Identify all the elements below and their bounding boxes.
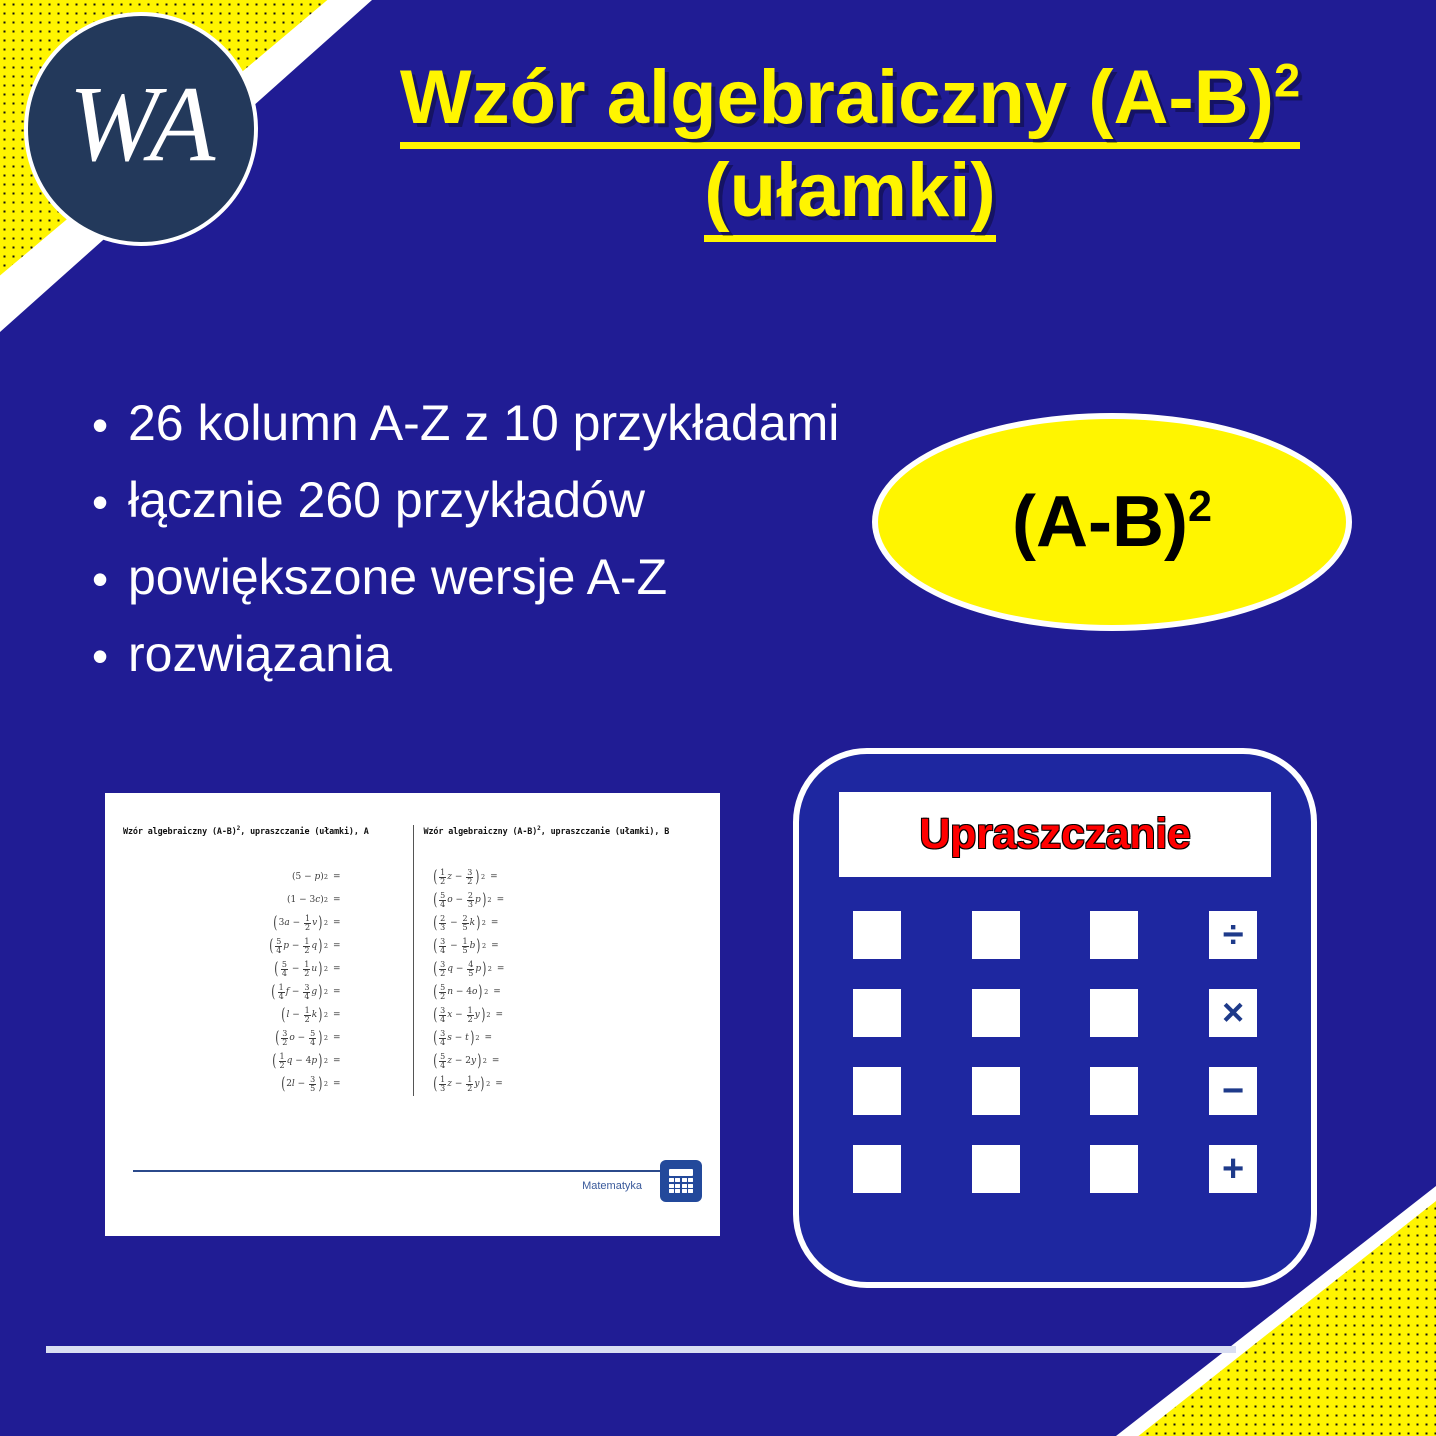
calc-key-blank[interactable] [1090,989,1138,1037]
worksheet-footer-rule [133,1170,688,1172]
worksheet-expression: (54p − 12q)2= [123,935,413,958]
calculator-icon-screen [669,1169,693,1176]
slide-canvas: WA Wzór algebraiczny (A-B)2 (ułamki) • 2… [0,0,1436,1436]
bottom-divider [46,1346,1236,1353]
col-b-head-post: , upraszczanie (ułamki), B [541,826,670,836]
bullet-dot-icon: • [72,469,128,525]
worksheet-expression: (52n − 4o)2= [424,981,703,1004]
worksheet-expression: (1 − 3c)2= [123,889,413,912]
worksheet-expression: (5 − p)2= [123,866,413,889]
calc-key-blank[interactable] [853,911,901,959]
worksheet-column-b: Wzór algebraiczny (A-B)2, upraszczanie (… [413,825,703,1096]
minus-icon[interactable]: − [1209,1067,1257,1115]
calculator-icon-keys [669,1178,693,1193]
formula-badge-base: (A-B) [1012,482,1188,562]
calc-key-blank[interactable] [972,1067,1020,1115]
calc-key-blank[interactable] [1090,1067,1138,1115]
worksheet-expression: (32q − 45p)2= [424,958,703,981]
calc-key-blank[interactable] [853,1145,901,1193]
title-line-1-text: Wzór algebraiczny (A-B) [400,55,1274,140]
bullet-dot-icon: • [72,623,128,679]
worksheet-column-a: Wzór algebraiczny (A-B)2, upraszczanie (… [123,825,413,1096]
worksheet-expression: (34 − 15b)2= [424,935,703,958]
worksheet-expression: (32o − 54)2= [123,1027,413,1050]
calc-key-blank[interactable] [1090,911,1138,959]
bullet-dot-icon: • [72,546,128,602]
calc-key-blank[interactable] [853,989,901,1037]
calculator-keypad: ÷ × − + [839,911,1271,1193]
formula-badge-superscript: 2 [1188,483,1212,531]
title-line-2-text: (ułamki) [704,148,995,242]
plus-icon[interactable]: + [1209,1145,1257,1193]
worksheet-expression: (13z − 12y)2= [424,1073,703,1096]
worksheet-column-a-items: (5 − p)2= (1 − 3c)2= (3a − 12v)2= (54p −… [123,866,413,1096]
title-line-1-superscript: 2 [1274,54,1300,107]
worksheet-preview[interactable]: Wzór algebraiczny (A-B)2, upraszczanie (… [105,793,720,1236]
bullet-label: 26 kolumn A-Z z 10 przykładami [128,392,852,455]
feature-bullet-list: • 26 kolumn A-Z z 10 przykładami • łączn… [72,392,852,700]
worksheet-expression: (2l − 35)2= [123,1073,413,1096]
calc-key-blank[interactable] [972,989,1020,1037]
worksheet-footer-label: Matematyka [582,1180,642,1192]
worksheet-expression: (34x − 12y)2= [424,1004,703,1027]
worksheet-expression: (l − 12k)2= [123,1004,413,1027]
worksheet-footer: Matematyka [105,1150,720,1236]
list-item: • łącznie 260 przykładów [72,469,852,532]
list-item: • 26 kolumn A-Z z 10 przykładami [72,392,852,455]
title-line-1: Wzór algebraiczny (A-B)2 [300,52,1400,145]
worksheet-expression: (14f − 34g)2= [123,981,413,1004]
divide-icon[interactable]: ÷ [1209,911,1257,959]
worksheet-expression: (23 − 25k)2= [424,912,703,935]
formula-badge: (A-B)2 [872,413,1352,631]
worksheet-expression: (3a − 12v)2= [123,912,413,935]
formula-badge-text: (A-B)2 [1012,486,1212,558]
calc-key-blank[interactable] [853,1067,901,1115]
worksheet-expression: (34s − t)2= [424,1027,703,1050]
brand-logo: WA [24,12,258,246]
worksheet-expression: (54z − 2y)2= [424,1050,703,1073]
calc-key-blank[interactable] [1090,1145,1138,1193]
col-b-head-pre: Wzór algebraiczny (A-B) [424,826,538,836]
col-a-head-post: , upraszczanie (ułamki), A [240,826,369,836]
logo-initials: WA [69,71,213,179]
calculator-display-text: Upraszczanie [919,810,1190,859]
calc-key-blank[interactable] [972,911,1020,959]
calculator-display: Upraszczanie [839,792,1271,877]
list-item: • powiększone wersje A-Z [72,546,852,609]
worksheet-column-b-header: Wzór algebraiczny (A-B)2, upraszczanie (… [424,825,703,836]
col-a-head-pre: Wzór algebraiczny (A-B) [123,826,237,836]
worksheet-expression: (54o − 23p)2= [424,889,703,912]
title-line-2: (ułamki) [300,145,1400,238]
worksheet-expression: (12z − 32)2= [424,866,703,889]
bullet-label: łącznie 260 przykładów [128,469,852,532]
bullet-dot-icon: • [72,392,128,448]
list-item: • rozwiązania [72,623,852,686]
bullet-label: powiększone wersje A-Z [128,546,852,609]
worksheet-expression: (54 − 12u)2= [123,958,413,981]
page-title: Wzór algebraiczny (A-B)2 (ułamki) [300,52,1400,238]
multiply-icon[interactable]: × [1209,989,1257,1037]
worksheet-column-a-header: Wzór algebraiczny (A-B)2, upraszczanie (… [123,825,413,836]
calc-key-blank[interactable] [972,1145,1020,1193]
bullet-label: rozwiązania [128,623,852,686]
calculator-illustration[interactable]: Upraszczanie ÷ × − + [793,748,1317,1288]
calculator-icon [660,1160,702,1202]
worksheet-column-b-items: (12z − 32)2= (54o − 23p)2= (23 − 25k)2= … [424,866,703,1096]
worksheet-expression: (12q − 4p)2= [123,1050,413,1073]
